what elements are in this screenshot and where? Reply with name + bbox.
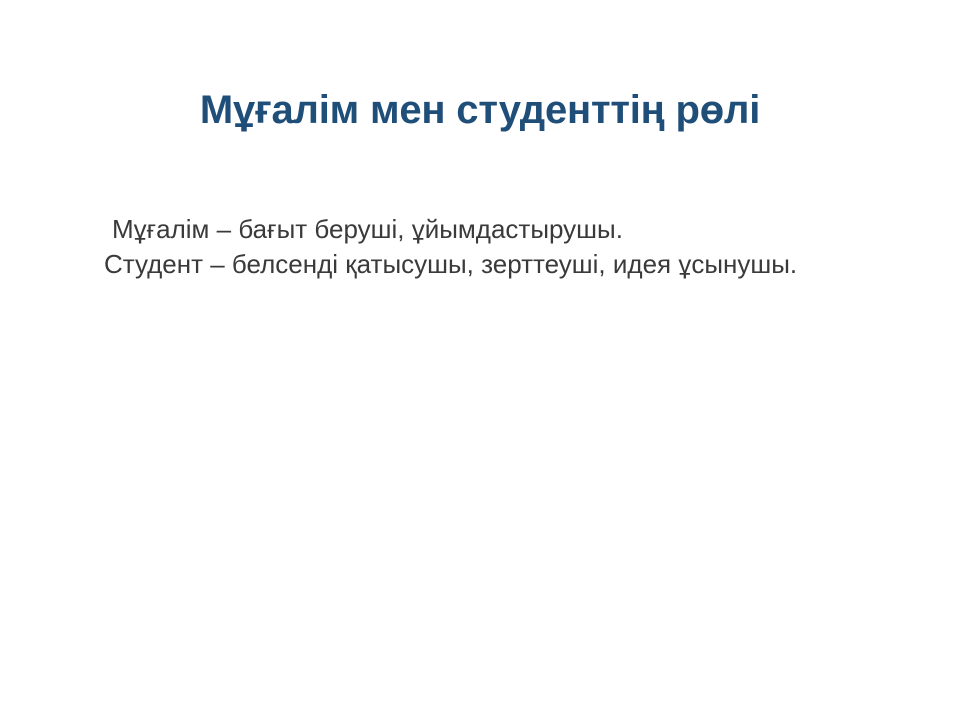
title-placeholder[interactable]: Мұғалім мен студенттің рөлі <box>0 86 960 134</box>
empty-content-area <box>0 300 960 720</box>
body-placeholder[interactable]: Мұғалім – бағыт беруші, ұйымдастырушы. С… <box>104 212 904 282</box>
body-line-teacher-role: Мұғалім – бағыт беруші, ұйымдастырушы. <box>104 212 904 247</box>
body-line-student-role: Студент – белсенді қатысушы, зерттеуші, … <box>104 247 904 282</box>
page-title: Мұғалім мен студенттің рөлі <box>0 86 960 134</box>
slide-canvas: Мұғалім мен студенттің рөлі Мұғалім – ба… <box>0 0 960 720</box>
